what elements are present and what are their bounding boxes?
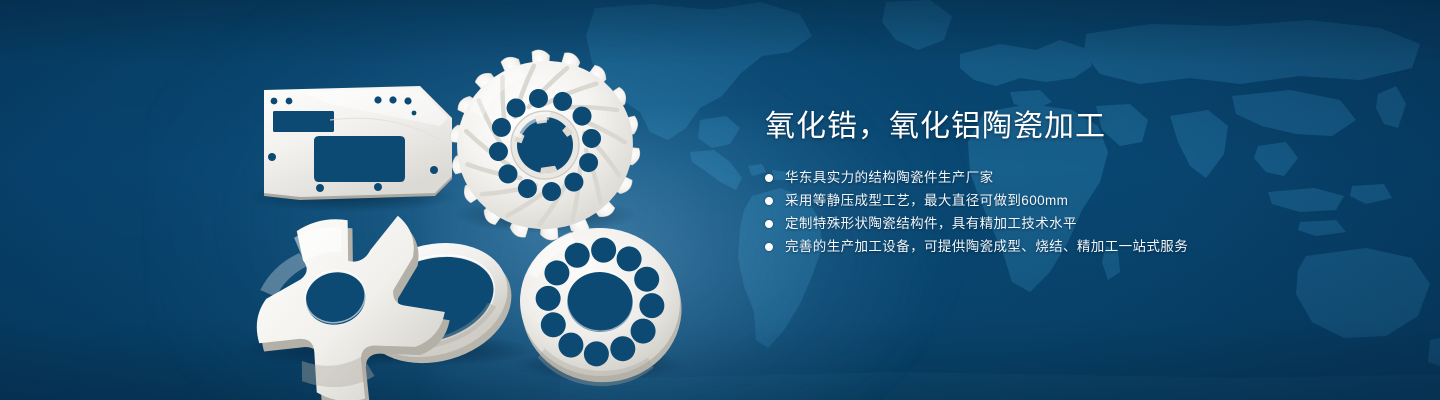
list-item: 定制特殊形状陶瓷结构件，具有精加工技术水平 [765, 212, 1365, 235]
feature-list: 华东具实力的结构陶瓷件生产厂家 采用等静压成型工艺，最大直径可做到600mm 定… [765, 166, 1365, 258]
list-item: 完善的生产加工设备，可提供陶瓷成型、烧结、精加工一站式服务 [765, 235, 1365, 258]
page-title: 氧化锆，氧化铝陶瓷加工 [765, 108, 1365, 146]
feature-text: 采用等静压成型工艺，最大直径可做到600mm [785, 189, 1068, 212]
feature-text: 定制特殊形状陶瓷结构件，具有精加工技术水平 [785, 212, 1077, 235]
ceramic-products-photo [0, 0, 760, 400]
list-item: 采用等静压成型工艺，最大直径可做到600mm [765, 189, 1365, 212]
banner-text-block: 氧化锆，氧化铝陶瓷加工 华东具实力的结构陶瓷件生产厂家 采用等静压成型工艺，最大… [765, 108, 1365, 258]
bullet-dot-icon [765, 220, 773, 228]
ceramic-flat-plate [264, 86, 452, 200]
feature-text: 完善的生产加工设备，可提供陶瓷成型、烧结、精加工一站式服务 [785, 235, 1188, 258]
bullet-dot-icon [765, 243, 773, 251]
bullet-dot-icon [765, 174, 773, 182]
feature-text: 华东具实力的结构陶瓷件生产厂家 [785, 166, 994, 189]
ceramic-processing-banner: 氧化锆，氧化铝陶瓷加工 华东具实力的结构陶瓷件生产厂家 采用等静压成型工艺，最大… [0, 0, 1440, 400]
bullet-dot-icon [765, 197, 773, 205]
list-item: 华东具实力的结构陶瓷件生产厂家 [765, 166, 1365, 189]
